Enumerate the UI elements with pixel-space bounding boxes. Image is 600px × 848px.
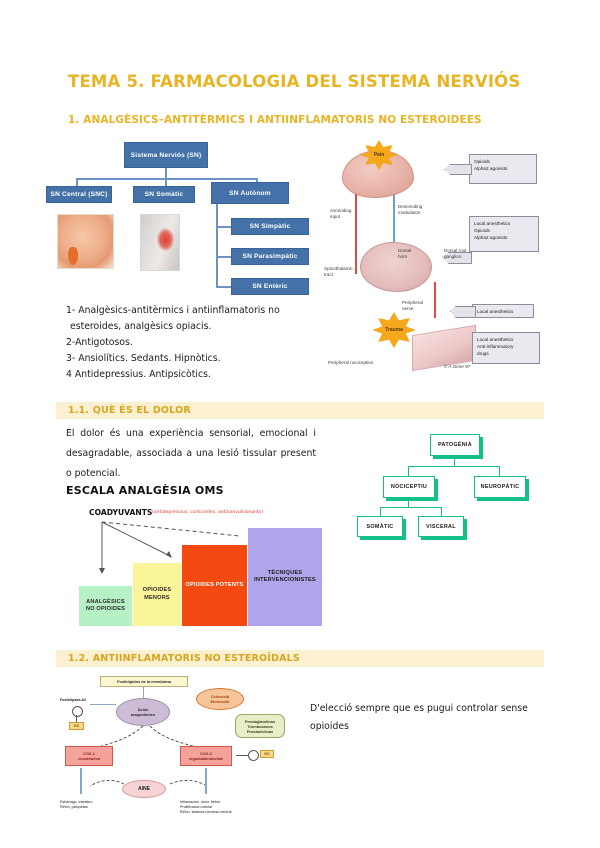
page-subtitle: 1. ANALGÈSICS–ANTITÈRMICS I ANTIINFLAMAT… [68, 114, 538, 126]
dolor-definition: El dolor és una experiència sensorial, e… [66, 424, 316, 484]
ns-autonomic-enteric: SN Entèric [231, 278, 309, 295]
connector [454, 456, 455, 466]
cox1-box: COX-1 constitutiva [65, 746, 113, 766]
label-descending-modulation: Descending modulation [398, 204, 438, 216]
callout-local-anesthetics-opioids: Local anesthetics Opioids Alpha2 agonist… [469, 216, 539, 252]
connector [216, 286, 232, 288]
callout-arrow [450, 306, 476, 318]
cox2-box: COX-2 regulada/inducible [180, 746, 232, 766]
membrane-phospholipids-box: Fosfolípidos de la membrana [100, 676, 188, 687]
ascending-tract [355, 194, 357, 274]
ladder-step-4: TÈCNIQUES INTERVENCIONISTES [248, 528, 322, 626]
list-item: 1- Analgèsics-antitèrmics i antiinflamat… [66, 303, 316, 319]
connector [76, 178, 257, 180]
pathogenesis-root: PATOGÈNIA [430, 434, 480, 456]
list-item: esteroides, analgèsics opiacis. [70, 319, 320, 335]
ladder-step-1: ANALGÈSICS NO OPIOIDES [79, 586, 132, 626]
section-1-2-heading: 1.2. ANTIINFLAMATORIS NO ESTEROÏDALS [68, 653, 300, 664]
pathogenesis-neuropatic: NEUROPÀTIC [474, 476, 526, 498]
coadjuvants-label: COADYUVANTS [89, 508, 152, 517]
ns-branch-somatic: SN Somàtic [133, 186, 195, 203]
callout-opioids-alpha2: Opioids Alpha2 agonists [469, 154, 537, 184]
document-page: TEMA 5. FARMACOLOGIA DEL SISTEMA NERVIÓS… [0, 0, 600, 848]
ns-root-box: Sistema Nerviós (SN) [124, 142, 208, 168]
page-title: TEMA 5. FARMACOLOGIA DEL SISTEMA NERVIÓS [68, 72, 538, 91]
gc-box-2: GC [260, 750, 274, 758]
section-1-1-heading: 1.1. QUÈ ÉS EL DOLOR [68, 405, 191, 416]
pathogenesis-visceral: VISCERAL [418, 516, 464, 537]
ns-branch-central: SN Central (SNC) [46, 186, 112, 203]
callout-arrow [444, 164, 472, 175]
ladder-step-3: OPIOIDES POTENTS [182, 545, 247, 626]
label-peripheral-nociception: Peripheral nociception [328, 360, 398, 366]
trauma-star: Trauma [372, 312, 416, 348]
aine-arrows [80, 776, 230, 802]
pathogenesis-somatic: SOMÀTIC [357, 516, 403, 537]
knee-pain-illustration [140, 214, 180, 271]
list-item: 4 Antidepressius. Antipsicòtics. [66, 367, 316, 383]
label-peripheral-nerve: Peripheral nerve [402, 300, 436, 312]
escala-oms-subheading: ESCALA ANALGÈSIA OMS [66, 484, 224, 497]
pain-pathway-figure: Pain Ascending input Descending modulati… [324, 136, 542, 374]
cox1-effect-arrow [80, 768, 82, 794]
callout-local-anesthetics: Local anesthetics [472, 304, 534, 318]
brain-illustration [57, 214, 114, 269]
nsaid-note: D'elecció sempre que es pugui controlar … [310, 700, 538, 736]
label-ascending-input: Ascending input [330, 208, 364, 220]
ns-autonomic-parasimpatic: SN Parasimpàtic [231, 248, 309, 265]
callout-local-anesthetics-nsaids: Local anesthetics Anti-inflammatory drug… [472, 332, 540, 364]
cox2-effects-text: Inflamación, dolor, fiebre Proliferación… [180, 800, 295, 816]
connector [408, 466, 409, 476]
connector [380, 507, 381, 516]
phospholipase-label: Fosfolipasa A2 [60, 698, 104, 703]
aine-cascade-figure: Fosfolípidos de la membrana Fosfolipasa … [60, 676, 295, 836]
section-1-2-bar: 1.2. ANTIINFLAMATORIS NO ESTEROÏDALS [56, 650, 544, 667]
connector [90, 704, 116, 705]
figure-credit: © A.Oiner 97 [444, 364, 494, 370]
connector [408, 466, 500, 467]
label-spinothalamic-tract: Spinothalamic tract [324, 266, 364, 278]
coadjuvants-detail: (antidepressius, corticoides, anticonvul… [152, 510, 263, 515]
connector [216, 204, 218, 286]
section-1-1-bar: 1.1. QUÈ ÉS EL DOLOR [56, 402, 544, 419]
arachidonic-acid-node: Ácido araquidónico [116, 698, 170, 726]
label-dorsal-horn: Dorsal horn [398, 248, 432, 260]
cox1-effects-text: Estómago, intestino Riñón, plaquetas [60, 800, 150, 810]
connector [76, 715, 77, 722]
connector [236, 755, 248, 756]
inhibition-symbol [248, 750, 259, 761]
coxibs-node: Celecoxib Etoricoxib [196, 688, 244, 710]
inhibition-symbol [72, 706, 83, 717]
ns-branch-autonomic: SN Autònom [211, 182, 289, 204]
connector [499, 466, 500, 476]
ladder-step-2: OPIOIDES MENORS [133, 563, 181, 626]
list-item: 2-Antigotosos. [66, 335, 316, 351]
connector [216, 226, 232, 228]
connector [380, 507, 442, 508]
connector [216, 256, 232, 258]
list-item: 3- Ansiolítics. Sedants. Hipnòtics. [66, 351, 316, 367]
connector [441, 507, 442, 516]
label-dorsal-root-ganglion: Dorsal root ganglion [444, 248, 484, 260]
connector [408, 498, 409, 507]
ns-autonomic-simpatic: SN Simpàtic [231, 218, 309, 235]
cox2-effect-arrow [205, 768, 207, 794]
pathogenesis-nociceptiu: NOCICEPTIU [383, 476, 435, 498]
